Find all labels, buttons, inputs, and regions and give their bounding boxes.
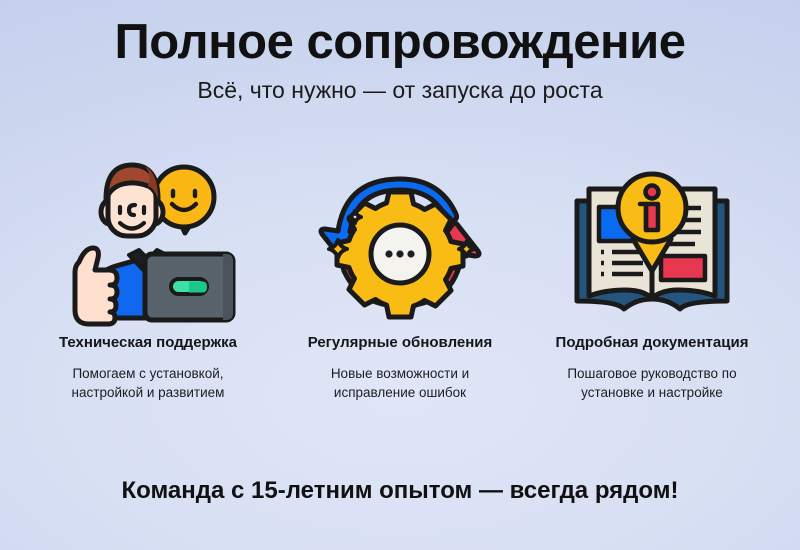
page-subtitle: Всё, что нужно — от запуска до роста [0,77,800,105]
thumbs-up-icon [75,248,117,324]
footer-tagline: Команда с 15-летним опытом — всегда рядо… [0,477,800,505]
poster-header: Полное сопровождение Всё, что нужно — от… [0,16,800,104]
card-desc-documentation: Пошаговое руководство по установке и нас… [567,364,736,403]
open-book-info-icon [557,155,747,330]
feature-card-documentation: Подробная документация Пошаговое руковод… [526,155,778,403]
feature-card-updates: Регулярные обновления Новые возможности … [274,155,526,403]
smiley-speech-bubble-icon [154,167,214,233]
gear-refresh-arrows-icon [305,155,495,330]
card-title-support: Техническая поддержка [59,334,237,353]
card-title-updates: Регулярные обновления [308,334,493,353]
support-agent-illustration [53,155,243,330]
card-title-documentation: Подробная документация [556,334,749,353]
card-desc-support: Помогаем с установкой, настройкой и разв… [72,364,225,403]
laptop-icon [145,254,233,320]
poster-canvas: Полное сопровождение Всё, что нужно — от… [0,0,800,550]
gear-dots-icon [385,250,414,257]
feature-cards: Техническая поддержка Помогаем с установ… [22,155,778,403]
card-desc-updates: Новые возможности и исправление ошибок [331,364,469,403]
page-title: Полное сопровождение [0,16,800,70]
feature-card-support: Техническая поддержка Помогаем с установ… [22,155,274,403]
